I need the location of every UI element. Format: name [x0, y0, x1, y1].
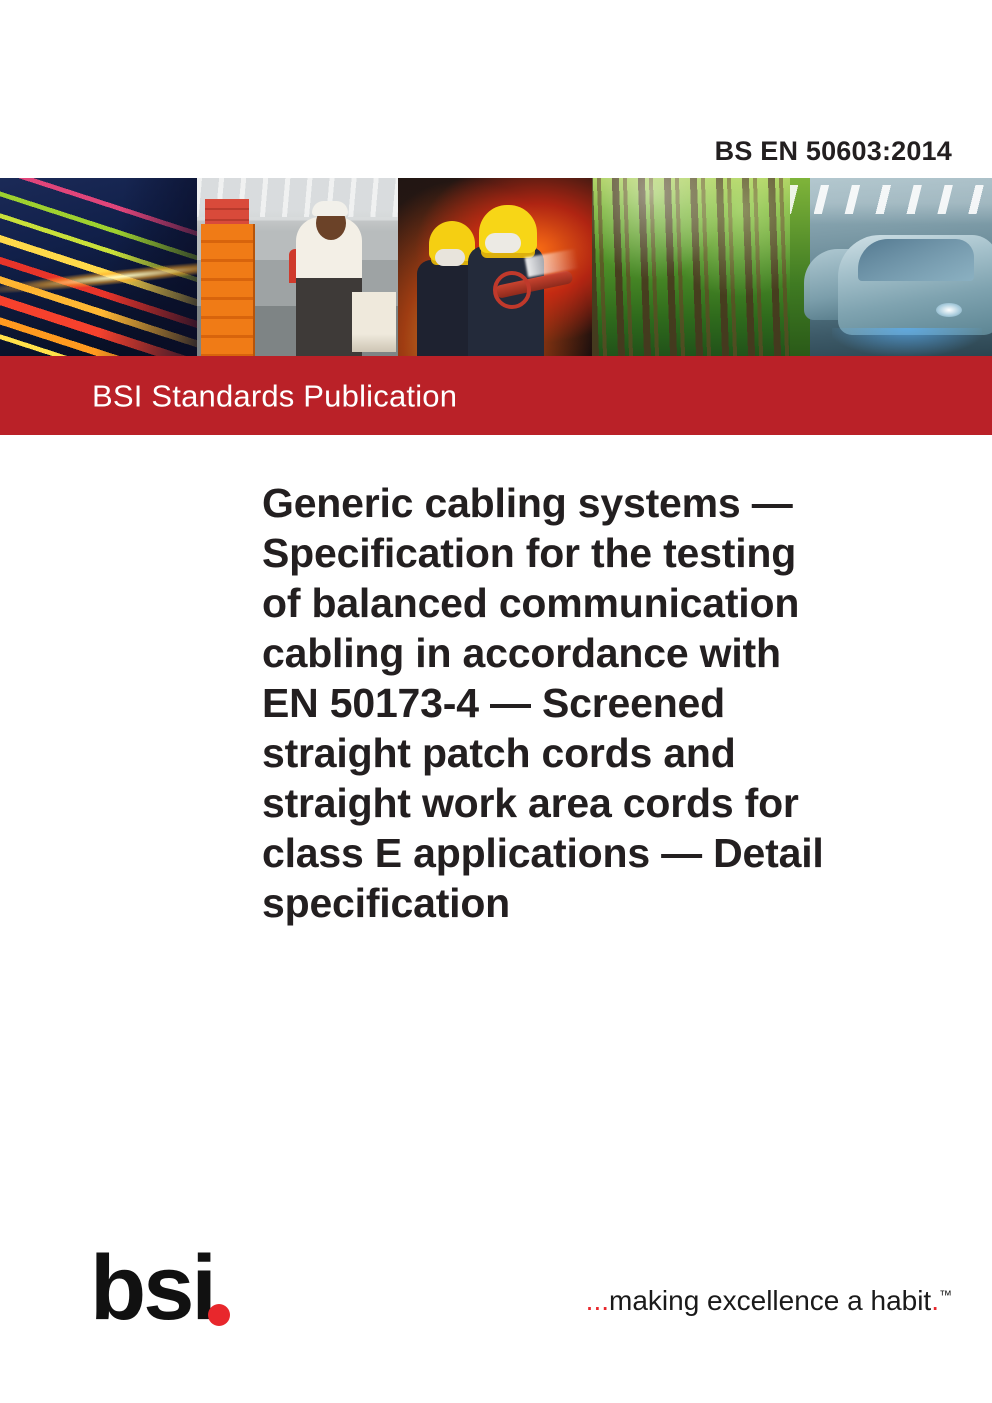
title-line-7: straight work area cords for	[262, 778, 882, 828]
car-headlight	[936, 303, 962, 317]
car-windscreen	[858, 239, 974, 282]
title-line-6: straight patch cords and	[262, 728, 882, 778]
tagline-ellipsis: ...	[586, 1285, 609, 1316]
banner-image-strip	[0, 178, 992, 356]
title-line-3: of balanced communication	[262, 578, 882, 628]
car-assembly-line-photo	[790, 178, 992, 356]
bsi-tagline: ...making excellence a habit.™	[586, 1287, 952, 1315]
title-line-2: Specification for the testing	[262, 528, 882, 578]
page-title: Generic cabling systems — Specification …	[262, 478, 882, 928]
warehouse-carton	[352, 292, 396, 353]
warehouse-worker-photo	[197, 178, 398, 356]
title-line-5: EN 50173-4 — Screened	[262, 678, 882, 728]
title-line-8: class E applications — Detail	[262, 828, 882, 878]
traffic-light-trails-photo	[0, 178, 197, 356]
tagline-text: making excellence a habit	[609, 1285, 931, 1316]
warehouse-worker-cap	[312, 201, 348, 216]
assembly-line-floor-glow	[832, 328, 982, 356]
bsi-logo-dot-icon	[208, 1304, 230, 1326]
title-line-4: cabling in accordance with	[262, 628, 882, 678]
publication-banner-label: BSI Standards Publication	[92, 380, 457, 411]
publication-banner: BSI Standards Publication	[0, 356, 992, 435]
firefighter-mask-left	[435, 249, 465, 266]
bsi-logo: bsi	[90, 1242, 225, 1328]
firefighter-mask-right	[485, 233, 521, 253]
firefighters-photo	[398, 178, 592, 356]
tagline-period: .	[931, 1285, 939, 1316]
assembly-line-ceiling-lamps	[790, 185, 992, 213]
title-line-1: Generic cabling systems —	[262, 478, 882, 528]
bsi-logo-text: bsi	[90, 1242, 214, 1334]
title-line-9: specification	[262, 878, 882, 928]
trademark-icon: ™	[939, 1288, 952, 1303]
warehouse-orange-crates	[201, 224, 255, 356]
forest-photo	[592, 178, 790, 356]
cover-page: BS EN 50603:2014	[0, 0, 992, 1403]
standard-number: BS EN 50603:2014	[715, 138, 952, 165]
fire-hose-valve	[493, 271, 531, 309]
